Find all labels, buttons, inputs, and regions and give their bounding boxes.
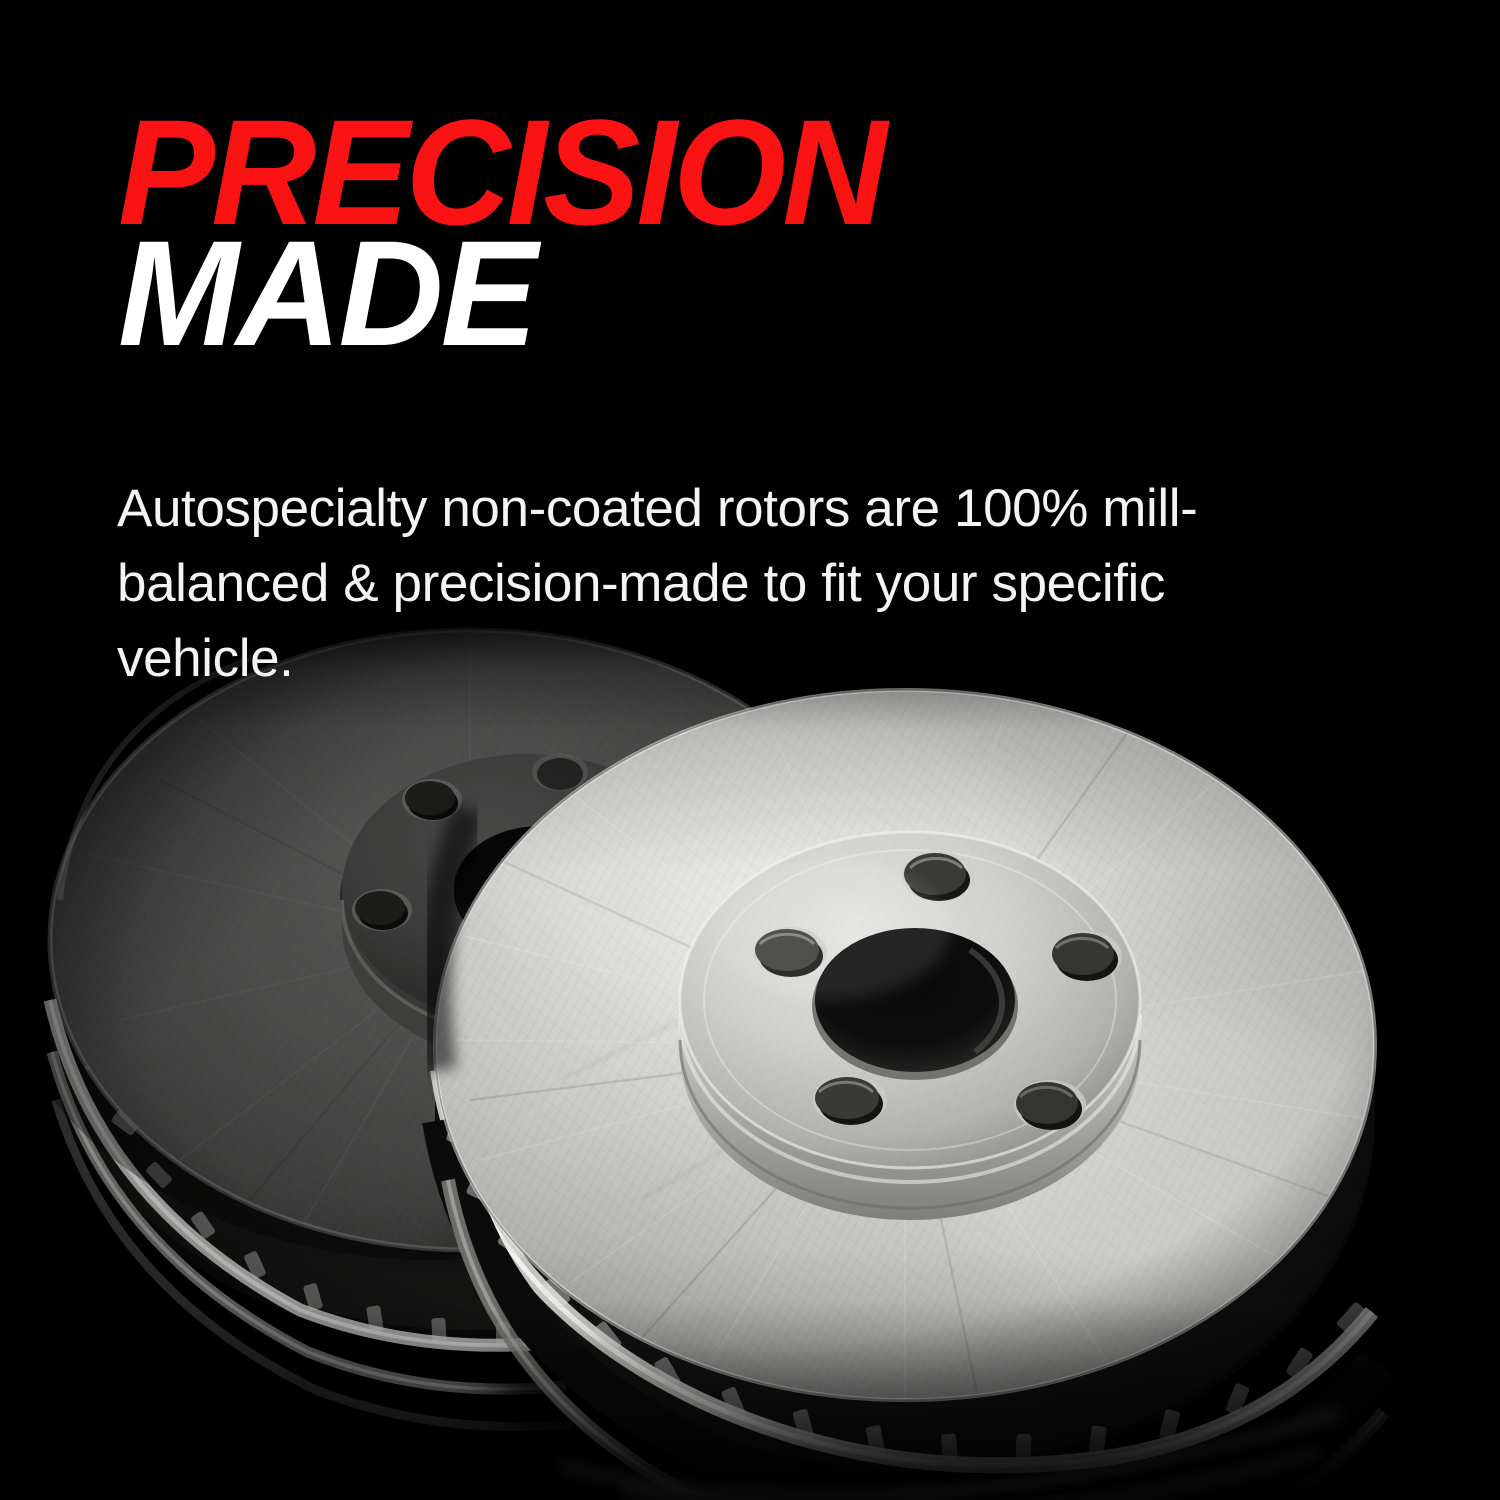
headline-precision: PRECISION (118, 108, 1379, 237)
rotor-product-photo (0, 600, 1500, 1500)
headline-made: MADE (118, 229, 1379, 358)
promo-banner: PRECISION MADE Autospecialty non-coated … (0, 0, 1500, 1500)
headline: PRECISION MADE (118, 108, 1418, 358)
